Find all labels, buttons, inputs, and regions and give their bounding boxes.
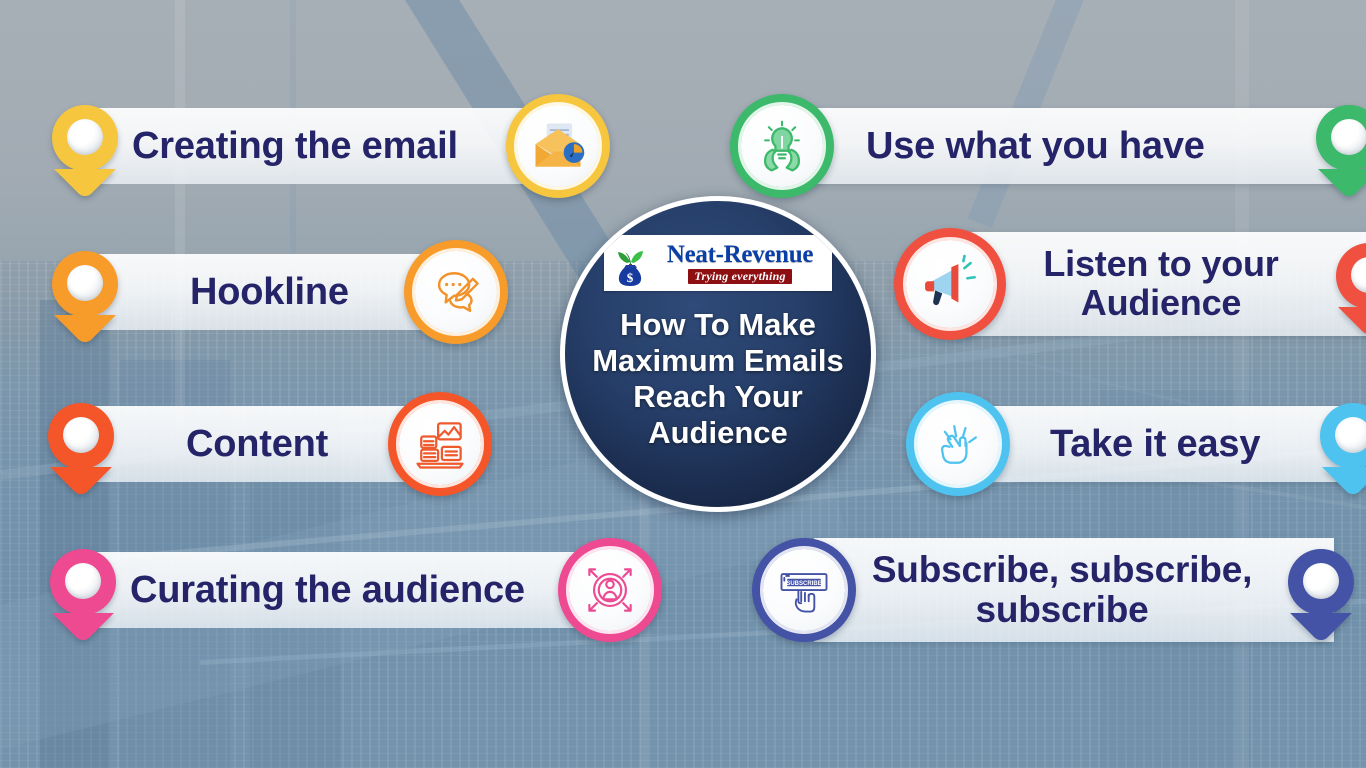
item-label: Use what you have xyxy=(866,127,1205,166)
map-pin-icon xyxy=(1336,243,1366,325)
subscribe-icon-text: SUBSCRIBE xyxy=(786,581,821,587)
banner-content[interactable]: Content xyxy=(70,406,430,482)
laptop-content-icon xyxy=(388,392,492,496)
banner-subscribe[interactable]: Subscribe, subscribe, subscribe xyxy=(814,538,1334,642)
item-take-it-easy[interactable]: Take it easy xyxy=(906,392,1366,496)
brand-tagline: Trying everything xyxy=(688,269,791,284)
banner-listen-to-your-audience[interactable]: Listen to your Audience xyxy=(962,232,1366,336)
subscribe-button-cursor-icon: SUBSCRIBE xyxy=(752,538,856,642)
item-hookline[interactable]: Hookline xyxy=(52,240,508,344)
banner-curating-the-audience[interactable]: Curating the audience xyxy=(72,552,600,628)
item-label: Creating the email xyxy=(132,127,458,166)
item-curating-the-audience[interactable]: Curating the audience xyxy=(50,538,662,642)
map-pin-icon xyxy=(50,549,116,631)
item-label: Content xyxy=(186,425,328,464)
brand-logo: $ Neat-Revenue Trying everything xyxy=(604,235,832,291)
snapping-fingers-icon xyxy=(906,392,1010,496)
map-pin-icon xyxy=(1316,105,1366,187)
lightbulb-hands-icon xyxy=(730,94,834,198)
item-creating-the-email[interactable]: Creating the email xyxy=(52,94,610,198)
map-pin-icon xyxy=(48,403,114,485)
megaphone-icon xyxy=(894,228,1006,340)
item-label: Take it easy xyxy=(1050,425,1260,464)
svg-text:$: $ xyxy=(627,270,634,285)
banner-creating-the-email[interactable]: Creating the email xyxy=(74,108,548,184)
banner-use-what-you-have[interactable]: Use what you have xyxy=(792,108,1360,184)
page-title: How To Make Maximum Emails Reach Your Au… xyxy=(573,307,863,451)
item-subscribe[interactable]: SUBSCRIBE Subscribe, subscribe, subscrib… xyxy=(752,538,1354,642)
item-label: Curating the audience xyxy=(130,571,525,610)
item-label: Hookline xyxy=(190,273,349,312)
item-listen-to-your-audience[interactable]: Listen to your Audience xyxy=(894,228,1366,340)
item-label: Listen to your Audience xyxy=(998,245,1324,323)
banner-take-it-easy[interactable]: Take it easy xyxy=(968,406,1364,482)
item-content[interactable]: Content xyxy=(48,392,492,496)
center-hub: $ Neat-Revenue Trying everything How To … xyxy=(560,196,876,512)
item-use-what-you-have[interactable]: Use what you have xyxy=(730,94,1366,198)
money-bag-plant-icon: $ xyxy=(610,240,650,286)
email-document-icon xyxy=(506,94,610,198)
map-pin-icon xyxy=(52,251,118,333)
chat-bubble-pencil-icon xyxy=(404,240,508,344)
map-pin-icon xyxy=(52,105,118,187)
map-pin-icon xyxy=(1320,403,1366,485)
brand-name: Neat-Revenue xyxy=(667,242,813,267)
target-audience-icon xyxy=(558,538,662,642)
item-label: Subscribe, subscribe, subscribe xyxy=(848,550,1276,630)
banner-hookline[interactable]: Hookline xyxy=(74,254,446,330)
map-pin-icon xyxy=(1288,549,1354,631)
